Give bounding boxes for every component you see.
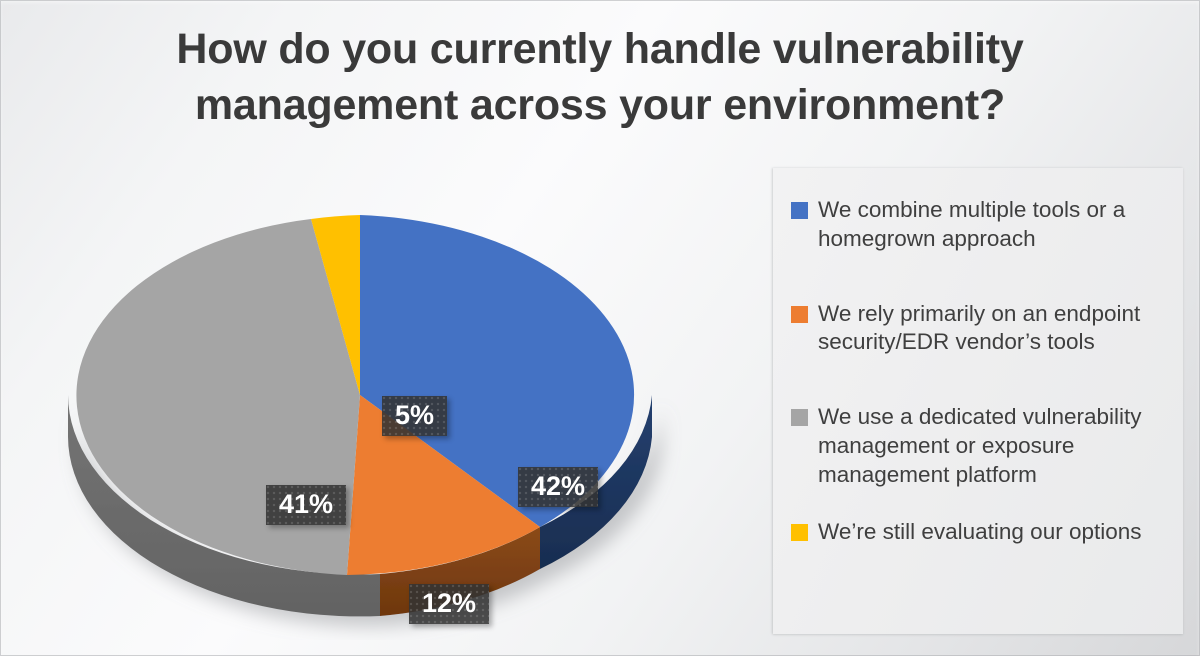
legend-item-endpoint-edr-vendor[interactable]: We rely primarily on an endpoint securit… [791,300,1169,358]
pie-top-faces [76,215,634,575]
slide-canvas: How do you currently handle vulnerabilit… [0,0,1200,656]
legend-item-still-evaluating[interactable]: We’re still evaluating our options [791,518,1169,547]
legend-item-combine-multiple-tools[interactable]: We combine multiple tools or a homegrown… [791,196,1169,254]
chart-legend: We combine multiple tools or a homegrown… [773,168,1183,634]
pie-label-blue: 42% [518,467,598,507]
legend-label-endpoint-edr-vendor: We rely primarily on an endpoint securit… [818,300,1169,358]
legend-label-still-evaluating: We’re still evaluating our options [818,518,1142,547]
pie-label-gray: 41% [266,485,346,525]
pie-chart: 42% 12% 41% 5% [20,150,760,640]
legend-item-dedicated-platform[interactable]: We use a dedicated vulnerability managem… [791,403,1169,489]
legend-label-combine-multiple-tools: We combine multiple tools or a homegrown… [818,196,1169,254]
legend-swatch-blue-icon [791,202,808,219]
legend-swatch-yellow-icon [791,524,808,541]
legend-label-dedicated-platform: We use a dedicated vulnerability managem… [818,403,1169,489]
pie-chart-svg [20,150,760,640]
page-title: How do you currently handle vulnerabilit… [110,22,1090,134]
pie-label-orange: 12% [409,584,489,624]
legend-swatch-gray-icon [791,409,808,426]
pie-label-yellow: 5% [382,396,447,436]
legend-swatch-orange-icon [791,306,808,323]
